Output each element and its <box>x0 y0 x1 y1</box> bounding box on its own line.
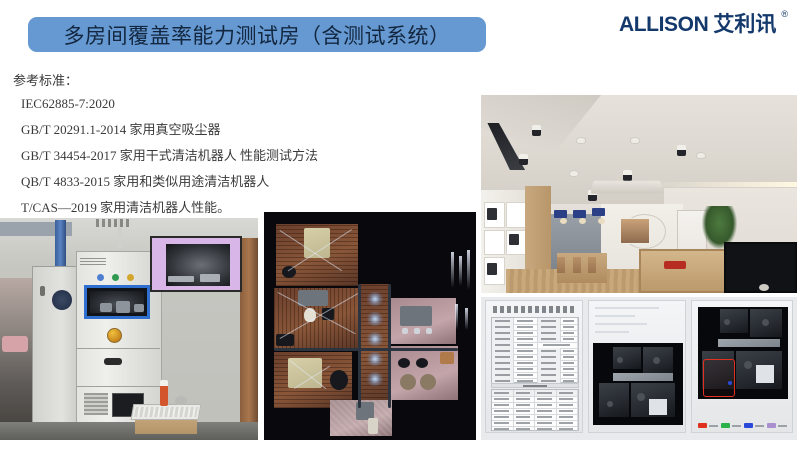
rack-ventilation-grille <box>84 393 108 415</box>
standard-line: IEC62885-7:2020 <box>21 96 443 112</box>
rack-indicator-blue <box>97 274 104 281</box>
rack-clutter-item <box>2 336 28 352</box>
floorplan-light-streak <box>459 256 462 286</box>
floorplan-furniture-chair <box>282 266 296 278</box>
page-title: 多房间覆盖率能力测试房（含测试系统） <box>64 20 451 50</box>
rack-window-interior <box>90 291 144 313</box>
test-platform-marker <box>664 261 686 269</box>
dashboard-map-panel <box>588 300 686 433</box>
wall-artwork <box>620 218 650 244</box>
report-sub-table <box>491 389 579 431</box>
header-text-line <box>595 307 659 309</box>
header-text-line <box>595 315 635 317</box>
floorplan-light-streak <box>455 304 458 330</box>
floorplan-furniture-sofa <box>298 290 328 306</box>
floorplan-furniture-chair <box>414 328 420 334</box>
ceiling-camera-icon <box>623 170 632 181</box>
floorplan-light-glow <box>366 332 384 346</box>
keyboard-keys <box>134 407 198 417</box>
ceiling-camera-icon <box>532 125 541 136</box>
standard-line: QB/T 4833-2015 家用和类似用途清洁机器人 <box>21 171 443 190</box>
shelf-product <box>487 208 496 220</box>
shelf-product <box>509 234 518 246</box>
standard-line: GB/T 34454-2017 家用干式清洁机器人 性能测试方法 <box>21 145 443 164</box>
rack-window-part <box>100 303 112 312</box>
pendant-light <box>560 218 567 224</box>
map-obstacle <box>744 361 752 369</box>
rack-panel-divider <box>76 386 160 387</box>
rack-monitor-overlay <box>168 276 194 282</box>
wall-sign <box>592 208 605 216</box>
table-row <box>492 426 578 432</box>
rack-indicator-amber <box>127 274 134 281</box>
ceiling-dome-sensor-icon <box>630 137 640 144</box>
mouse[interactable] <box>175 396 187 405</box>
photo-equipment-rack <box>0 218 258 440</box>
floorplan-furniture-cabinet <box>440 352 454 364</box>
pendant-light <box>579 218 586 224</box>
wall-sign <box>554 210 567 218</box>
photo-test-room <box>481 95 797 293</box>
coverage-map-view <box>698 307 788 399</box>
floorplan-furniture-fixture <box>420 374 436 390</box>
legend-item <box>721 423 741 428</box>
standards-heading: 参考标准： <box>13 70 443 89</box>
cleaning-robot <box>759 284 769 291</box>
room-chair <box>573 257 581 273</box>
floorplan-furniture-fixture <box>416 358 428 368</box>
ceiling-dome-sensor-icon <box>696 152 706 159</box>
rack-door-handle <box>40 286 45 296</box>
room-chair <box>557 257 565 273</box>
rack-monitor-overlay <box>200 274 220 282</box>
legend-item <box>744 423 764 428</box>
dashboard-report-panel <box>485 300 583 433</box>
keyboard[interactable] <box>131 404 202 420</box>
legend-swatch-covered <box>698 423 707 428</box>
legend-label-missed <box>778 425 787 427</box>
map-obstacle <box>653 357 660 364</box>
legend-swatch-repeated <box>721 423 730 428</box>
floorplan-light-glow <box>366 312 384 326</box>
rack-window-part <box>134 304 144 312</box>
brand-cjk-text: 艾利讯 <box>713 14 776 35</box>
ceiling-camera-icon <box>677 145 686 156</box>
room-chair <box>588 257 596 273</box>
ceiling-dome-sensor-icon <box>576 137 586 144</box>
shelf-cell <box>484 230 505 256</box>
ceiling-cove-light <box>645 182 797 187</box>
photo-floorplan-map <box>264 212 476 440</box>
rack-panel-divider <box>76 348 160 349</box>
rack-inspection-window <box>84 285 150 319</box>
legend-item <box>767 423 787 428</box>
map-room <box>599 383 629 417</box>
shelf-cell <box>506 202 527 228</box>
map-obstacle <box>762 319 769 326</box>
rack-door-fan-icon <box>52 290 72 310</box>
rack-cabinet-label <box>80 258 106 265</box>
map-obstacle <box>724 319 730 325</box>
floorplan-wall <box>358 284 361 408</box>
registered-trademark-icon: ® <box>781 10 788 19</box>
header-text-line <box>595 331 629 333</box>
map-obstacle <box>617 357 623 363</box>
rack-wall-signage <box>96 219 130 227</box>
floorplan-furniture-dining-table <box>400 306 432 326</box>
floorplan-furniture-chair <box>402 328 408 334</box>
rack-drawer-handle[interactable] <box>104 358 122 365</box>
rack-indicator-green <box>112 274 119 281</box>
floorplan-light-streak <box>451 252 454 288</box>
brand-logo: ALLISON 艾利讯 ® <box>619 14 788 35</box>
map-highlight-zone <box>756 365 774 383</box>
header-text-line <box>595 323 647 325</box>
map-obstacle <box>607 401 613 407</box>
pendant-light <box>598 218 605 224</box>
rack-side-clutter <box>0 278 32 428</box>
floorplan-light-streak <box>467 250 470 290</box>
floorplan-light-streak <box>465 308 468 330</box>
map-obstacle <box>637 393 645 401</box>
coverage-legend <box>698 423 788 428</box>
test-platform <box>639 249 734 293</box>
standard-line: GB/T 20291.1-2014 家用真空吸尘器 <box>21 119 443 138</box>
legend-label-covered <box>709 425 718 427</box>
floorplan-furniture-chair <box>330 370 348 390</box>
legend-swatch-missed <box>767 423 776 428</box>
rack-wood-partition <box>240 238 258 423</box>
rack-window-part <box>116 301 130 313</box>
floorplan-light-glow <box>366 352 384 366</box>
report-subtable-title <box>491 383 579 388</box>
rack-wall-monitor <box>150 236 242 292</box>
reference-standards-block: 参考标准： IEC62885-7:2020 GB/T 20291.1-2014 … <box>13 70 443 223</box>
robot-position-marker <box>728 381 732 385</box>
legend-item <box>698 423 718 428</box>
floorplan-light-glow <box>366 292 384 306</box>
water-bottle <box>160 380 168 406</box>
floorplan-wall <box>388 284 391 408</box>
floorplan-furniture-chair <box>426 328 432 334</box>
ceiling-camera-icon <box>519 154 528 165</box>
map-highlight-zone <box>649 399 667 415</box>
floorplan-furniture-fixture <box>398 358 410 368</box>
dashboard-coverage-panel <box>691 300 793 433</box>
rack-emergency-stop-button[interactable] <box>107 328 122 343</box>
floorplan-furniture-fixture <box>400 374 416 390</box>
wall-sign <box>573 210 586 218</box>
floorplan-light-glow <box>366 372 384 386</box>
brand-latin-text: ALLISON <box>619 14 708 35</box>
report-title-text <box>493 306 577 313</box>
map-panel-header <box>595 307 665 337</box>
slide-title-banner: 多房间覆盖率能力测试房（含测试系统） <box>28 17 486 52</box>
legend-label-path <box>755 425 764 427</box>
floorplan-furniture-obstacle <box>368 418 378 434</box>
map-hallway <box>718 339 780 347</box>
floorplan-wall <box>274 348 458 351</box>
map-hallway <box>613 373 673 381</box>
photo-dashboard <box>481 297 797 440</box>
report-main-table <box>491 317 579 383</box>
legend-label-repeated <box>732 425 741 427</box>
rack-floor <box>0 422 258 440</box>
legend-swatch-path <box>744 423 753 428</box>
map-live-view <box>593 343 683 425</box>
coverage-region-outline <box>703 359 735 397</box>
shelf-product <box>487 263 496 275</box>
